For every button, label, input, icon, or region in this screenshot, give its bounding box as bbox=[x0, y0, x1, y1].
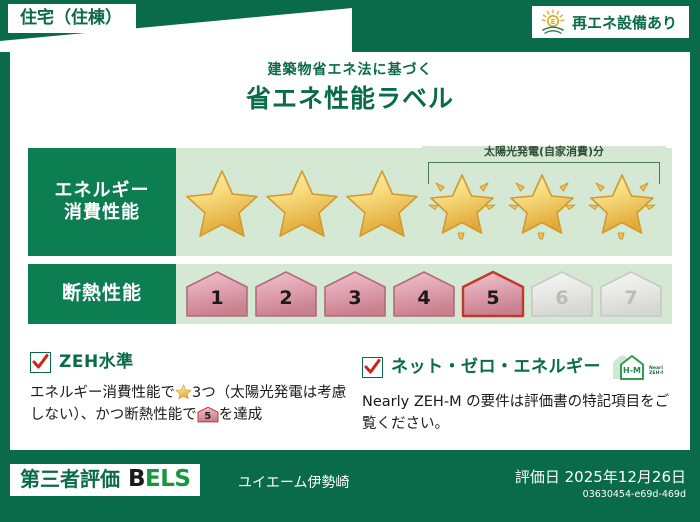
bels-jp-label: 第三者評価 bbox=[20, 469, 120, 489]
energy-label-line2: 消費性能 bbox=[64, 202, 140, 225]
energy-stars-track: 太陽光発電(自家消費)分 bbox=[176, 148, 672, 256]
renewable-badge-label: 再エネ設備あり bbox=[572, 12, 677, 33]
star-3 bbox=[342, 163, 422, 241]
zeh-m-logo-sub2: ZEH-M bbox=[649, 370, 663, 376]
energy-performance-label: 住宅（住棟） E 再エネ設備あり bbox=[0, 0, 700, 522]
insulation-level-3-number: 3 bbox=[322, 270, 388, 318]
star-1 bbox=[182, 163, 262, 241]
zeh-criterion: ZEH水準 エネルギー消費性能で3つ（太陽光発電は考慮しない）、かつ断熱性能で5… bbox=[30, 352, 350, 427]
net-zero-checkbox[interactable] bbox=[362, 357, 383, 378]
check-icon bbox=[364, 358, 381, 376]
zeh-checkbox[interactable] bbox=[30, 352, 51, 373]
star-6-solar bbox=[582, 163, 662, 241]
net-zero-criterion-head: ネット・ゼロ・エネルギー H-M Nearly ZEH-M bbox=[362, 352, 672, 382]
energy-performance-row: エネルギー 消費性能 太陽光発電(自家消費)分 bbox=[28, 148, 672, 256]
insulation-level-7-number: 7 bbox=[598, 270, 664, 318]
building-type-label: 住宅（住棟） bbox=[20, 8, 122, 28]
building-type-box: 住宅（住棟） bbox=[8, 4, 136, 33]
zeh-criterion-head: ZEH水準 bbox=[30, 352, 350, 373]
star-rating bbox=[176, 148, 672, 256]
footer: 第三者評価 BELS ユイエーム伊勢崎 評価日 2025年12月26日 0363… bbox=[0, 450, 700, 522]
insulation-level-4: 4 bbox=[391, 270, 457, 318]
star-5-solar bbox=[502, 163, 582, 241]
insulation-level-4-number: 4 bbox=[391, 270, 457, 318]
insulation-level-2-number: 2 bbox=[253, 270, 319, 318]
star-4-solar bbox=[422, 163, 502, 241]
inline-star-icon bbox=[175, 383, 192, 400]
insulation-label: 断熱性能 bbox=[62, 282, 142, 306]
evaluation-id: 03630454-e69d-469d bbox=[515, 489, 686, 500]
evaluation-date-label: 評価日 bbox=[515, 468, 560, 486]
insulation-level-3: 3 bbox=[322, 270, 388, 318]
evaluation-info: 評価日 2025年12月26日 03630454-e69d-469d bbox=[515, 468, 686, 500]
bels-letter-b: B bbox=[128, 466, 145, 492]
nearly-zeh-m-logo-icon: H-M Nearly ZEH-M bbox=[611, 352, 663, 382]
energy-label-line1: エネルギー bbox=[55, 180, 150, 203]
insulation-level-7: 7 bbox=[598, 270, 664, 318]
net-zero-criterion: ネット・ゼロ・エネルギー H-M Nearly ZEH-M Nearly ZEH… bbox=[362, 352, 672, 436]
bels-en-label: BELS bbox=[128, 468, 190, 491]
insulation-level-6: 6 bbox=[529, 270, 595, 318]
builder-name: ユイエーム伊勢崎 bbox=[238, 476, 349, 490]
net-zero-criterion-body: Nearly ZEH-M の要件は評価書の特記項目をご覧ください。 bbox=[362, 391, 672, 436]
insulation-level-5-number: 5 bbox=[460, 270, 526, 318]
renewable-equipment-badge: E 再エネ設備あり bbox=[532, 6, 689, 38]
check-icon bbox=[32, 353, 49, 371]
net-zero-criterion-title: ネット・ゼロ・エネルギー bbox=[391, 359, 601, 376]
insulation-level-6-number: 6 bbox=[529, 270, 595, 318]
inline-house-badge: 5 bbox=[197, 406, 219, 423]
bels-letters-els: ELS bbox=[145, 466, 190, 492]
star-2 bbox=[262, 163, 342, 241]
solar-sun-icon: E bbox=[540, 9, 566, 35]
zeh-criterion-title: ZEH水準 bbox=[59, 354, 134, 371]
evaluation-date-value: 2025年12月26日 bbox=[565, 468, 686, 486]
evaluation-date: 評価日 2025年12月26日 bbox=[515, 468, 686, 486]
insulation-level-1-number: 1 bbox=[184, 270, 250, 318]
svg-text:E: E bbox=[551, 18, 556, 26]
insulation-levels-track: 1 2 3 4 bbox=[176, 264, 672, 324]
header: 住宅（住棟） E 再エネ設備あり bbox=[0, 0, 700, 52]
bels-badge: 第三者評価 BELS bbox=[10, 464, 200, 496]
energy-performance-label-band: エネルギー 消費性能 bbox=[28, 148, 176, 256]
title-subtitle: 建築物省エネ法に基づく bbox=[10, 62, 690, 79]
insulation-level-list: 1 2 3 4 bbox=[176, 264, 672, 324]
insulation-level-2: 2 bbox=[253, 270, 319, 318]
zeh-body-part3: を達成 bbox=[219, 407, 263, 423]
insulation-level-5-achieved: 5 bbox=[460, 270, 526, 318]
inline-house-number: 5 bbox=[197, 406, 219, 423]
zeh-body-part1: エネルギー消費性能で bbox=[30, 385, 175, 401]
title-block: 建築物省エネ法に基づく 省エネ性能ラベル bbox=[10, 62, 690, 114]
insulation-label-band: 断熱性能 bbox=[28, 264, 176, 324]
insulation-performance-row: 断熱性能 bbox=[28, 264, 672, 324]
zeh-criterion-body: エネルギー消費性能で3つ（太陽光発電は考慮しない）、かつ断熱性能で5を達成 bbox=[30, 382, 350, 427]
zeh-m-logo-text: H-M bbox=[623, 366, 641, 375]
insulation-level-1: 1 bbox=[184, 270, 250, 318]
page-title: 省エネ性能ラベル bbox=[10, 84, 690, 114]
